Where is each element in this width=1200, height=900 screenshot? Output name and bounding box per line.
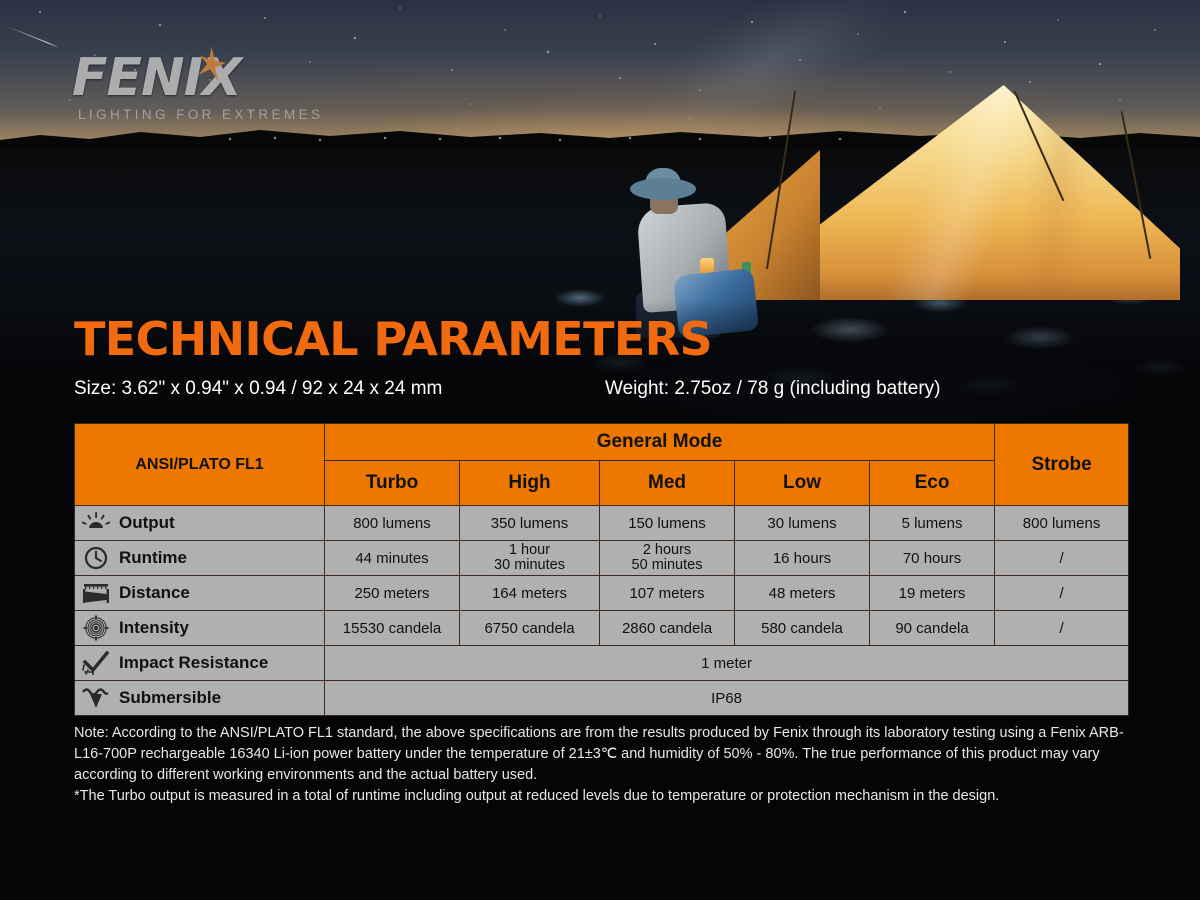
header-mode-turbo: Turbo [325, 461, 460, 506]
row-label-text: Submersible [119, 688, 221, 708]
cell-output-low: 30 lumens [735, 506, 870, 541]
spec-table-wrapper: ANSI/PLATO FL1 General Mode Strobe Turbo… [74, 423, 1128, 716]
cell-runtime-low: 16 hours [735, 541, 870, 576]
cell-distance-med: 107 meters [600, 576, 735, 611]
row-label-runtime: Runtime [75, 541, 325, 576]
logo-tagline: LIGHTING FOR EXTREMES [78, 107, 342, 122]
table-row: Submersible IP68 [75, 681, 1129, 716]
row-label-text: Intensity [119, 618, 189, 638]
footnote-block: Note: According to the ANSI/PLATO FL1 st… [74, 723, 1132, 807]
page-title: TECHNICAL PARAMETERS [74, 316, 712, 362]
header-mode-med: Med [600, 461, 735, 506]
cell-intensity-turbo: 15530 candela [325, 611, 460, 646]
row-label-distance: Distance [75, 576, 325, 611]
cell-output-high: 350 lumens [460, 506, 600, 541]
cell-runtime-turbo: 44 minutes [325, 541, 460, 576]
cell-text: 2 hours 50 minutes [632, 542, 703, 573]
submersible-icon [81, 686, 111, 710]
cell-text: 1 hour 30 minutes [494, 542, 565, 573]
table-row: Runtime 44 minutes 1 hour 30 minutes 2 h… [75, 541, 1129, 576]
clock-icon [81, 546, 111, 570]
row-label-intensity: Intensity [75, 611, 325, 646]
cell-submersible-value: IP68 [325, 681, 1129, 716]
cell-output-eco: 5 lumens [870, 506, 995, 541]
row-label-text: Runtime [119, 548, 187, 568]
table-row: Intensity 15530 candela 6750 candela 286… [75, 611, 1129, 646]
cell-runtime-eco: 70 hours [870, 541, 995, 576]
cell-output-turbo: 800 lumens [325, 506, 460, 541]
header-general-mode: General Mode [325, 424, 995, 461]
header-ansi-plato: ANSI/PLATO FL1 [75, 424, 325, 506]
cell-intensity-high: 6750 candela [460, 611, 600, 646]
header-mode-eco: Eco [870, 461, 995, 506]
row-label-text: Output [119, 513, 175, 533]
header-mode-low: Low [735, 461, 870, 506]
table-row: Distance 250 meters 164 meters 107 meter… [75, 576, 1129, 611]
cell-impact-resistance-value: 1 meter [325, 646, 1129, 681]
distant-city-lights [200, 136, 900, 142]
table-header: ANSI/PLATO FL1 General Mode Strobe Turbo… [75, 424, 1129, 506]
table-body: Output 800 lumens 350 lumens 150 lumens … [75, 506, 1129, 716]
cell-runtime-strobe: / [995, 541, 1129, 576]
row-label-submersible: Submersible [75, 681, 325, 716]
row-label-output: Output [75, 506, 325, 541]
cell-distance-high: 164 meters [460, 576, 600, 611]
row-label-impact-resistance: Impact Resistance [75, 646, 325, 681]
product-spec-page: FENIX LIGHTING FOR EXTREMES TECHNICAL PA… [0, 0, 1200, 900]
cell-intensity-med: 2860 candela [600, 611, 735, 646]
header-strobe: Strobe [995, 424, 1129, 506]
cell-runtime-med: 2 hours 50 minutes [600, 541, 735, 576]
table-row: Impact Resistance 1 meter [75, 646, 1129, 681]
cell-output-strobe: 800 lumens [995, 506, 1129, 541]
technical-parameters-table: ANSI/PLATO FL1 General Mode Strobe Turbo… [74, 423, 1129, 716]
beam-distance-icon [81, 581, 111, 605]
fenix-logo: FENIX LIGHTING FOR EXTREMES [72, 52, 342, 122]
cell-intensity-eco: 90 candela [870, 611, 995, 646]
cell-runtime-high: 1 hour 30 minutes [460, 541, 600, 576]
weight-text: Weight: 2.75oz / 78 g (including battery… [605, 378, 941, 400]
sun-burst-icon [81, 511, 111, 535]
target-intensity-icon [81, 616, 111, 640]
table-header-row-1: ANSI/PLATO FL1 General Mode Strobe [75, 424, 1129, 461]
camper-hat-brim [630, 178, 696, 200]
cell-distance-turbo: 250 meters [325, 576, 460, 611]
size-text: Size: 3.62" x 0.94" x 0.94 / 92 x 24 x 2… [74, 378, 442, 400]
footnote-line-1: Note: According to the ANSI/PLATO FL1 st… [74, 723, 1132, 786]
cell-output-med: 150 lumens [600, 506, 735, 541]
header-mode-high: High [460, 461, 600, 506]
cell-distance-eco: 19 meters [870, 576, 995, 611]
footnote-line-2: *The Turbo output is measured in a total… [74, 786, 1132, 807]
cell-intensity-strobe: / [995, 611, 1129, 646]
table-row: Output 800 lumens 350 lumens 150 lumens … [75, 506, 1129, 541]
cell-distance-low: 48 meters [735, 576, 870, 611]
cell-distance-strobe: / [995, 576, 1129, 611]
row-label-text: Impact Resistance [119, 653, 268, 673]
cell-intensity-low: 580 candela [735, 611, 870, 646]
row-label-text: Distance [119, 583, 190, 603]
impact-check-icon [81, 651, 111, 675]
